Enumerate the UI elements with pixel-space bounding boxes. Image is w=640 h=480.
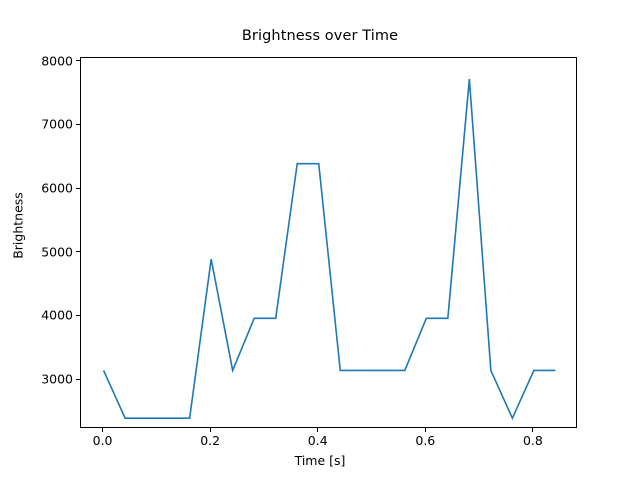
x-tick-label: 0.6	[415, 433, 435, 448]
x-tick-mark	[210, 428, 211, 432]
y-axis-tick-labels: 300040005000600070008000	[0, 0, 73, 480]
y-tick-label: 6000	[41, 181, 73, 196]
x-tick-label: 0.4	[308, 433, 328, 448]
brightness-line	[104, 79, 556, 418]
x-tick-label: 0.2	[200, 433, 220, 448]
x-tick-mark	[532, 428, 533, 432]
x-axis-label: Time [s]	[0, 453, 640, 468]
y-tick-label: 8000	[41, 53, 73, 68]
chart-title: Brightness over Time	[0, 28, 640, 44]
y-tick-mark	[76, 379, 80, 380]
plot-area	[80, 57, 577, 428]
y-tick-mark	[76, 60, 80, 61]
y-tick-label: 7000	[41, 117, 73, 132]
x-tick-label: 0.8	[523, 433, 543, 448]
y-tick-mark	[76, 315, 80, 316]
x-tick-mark	[317, 428, 318, 432]
data-line-series	[81, 58, 578, 429]
y-tick-label: 4000	[41, 308, 73, 323]
y-tick-label: 5000	[41, 244, 73, 259]
y-tick-mark	[76, 124, 80, 125]
y-tick-label: 3000	[41, 372, 73, 387]
y-tick-mark	[76, 188, 80, 189]
x-tick-mark	[425, 428, 426, 432]
x-tick-label: 0.0	[93, 433, 113, 448]
y-tick-mark	[76, 251, 80, 252]
x-tick-mark	[102, 428, 103, 432]
chart-figure: Brightness over Time Brightness 30004000…	[0, 0, 640, 480]
